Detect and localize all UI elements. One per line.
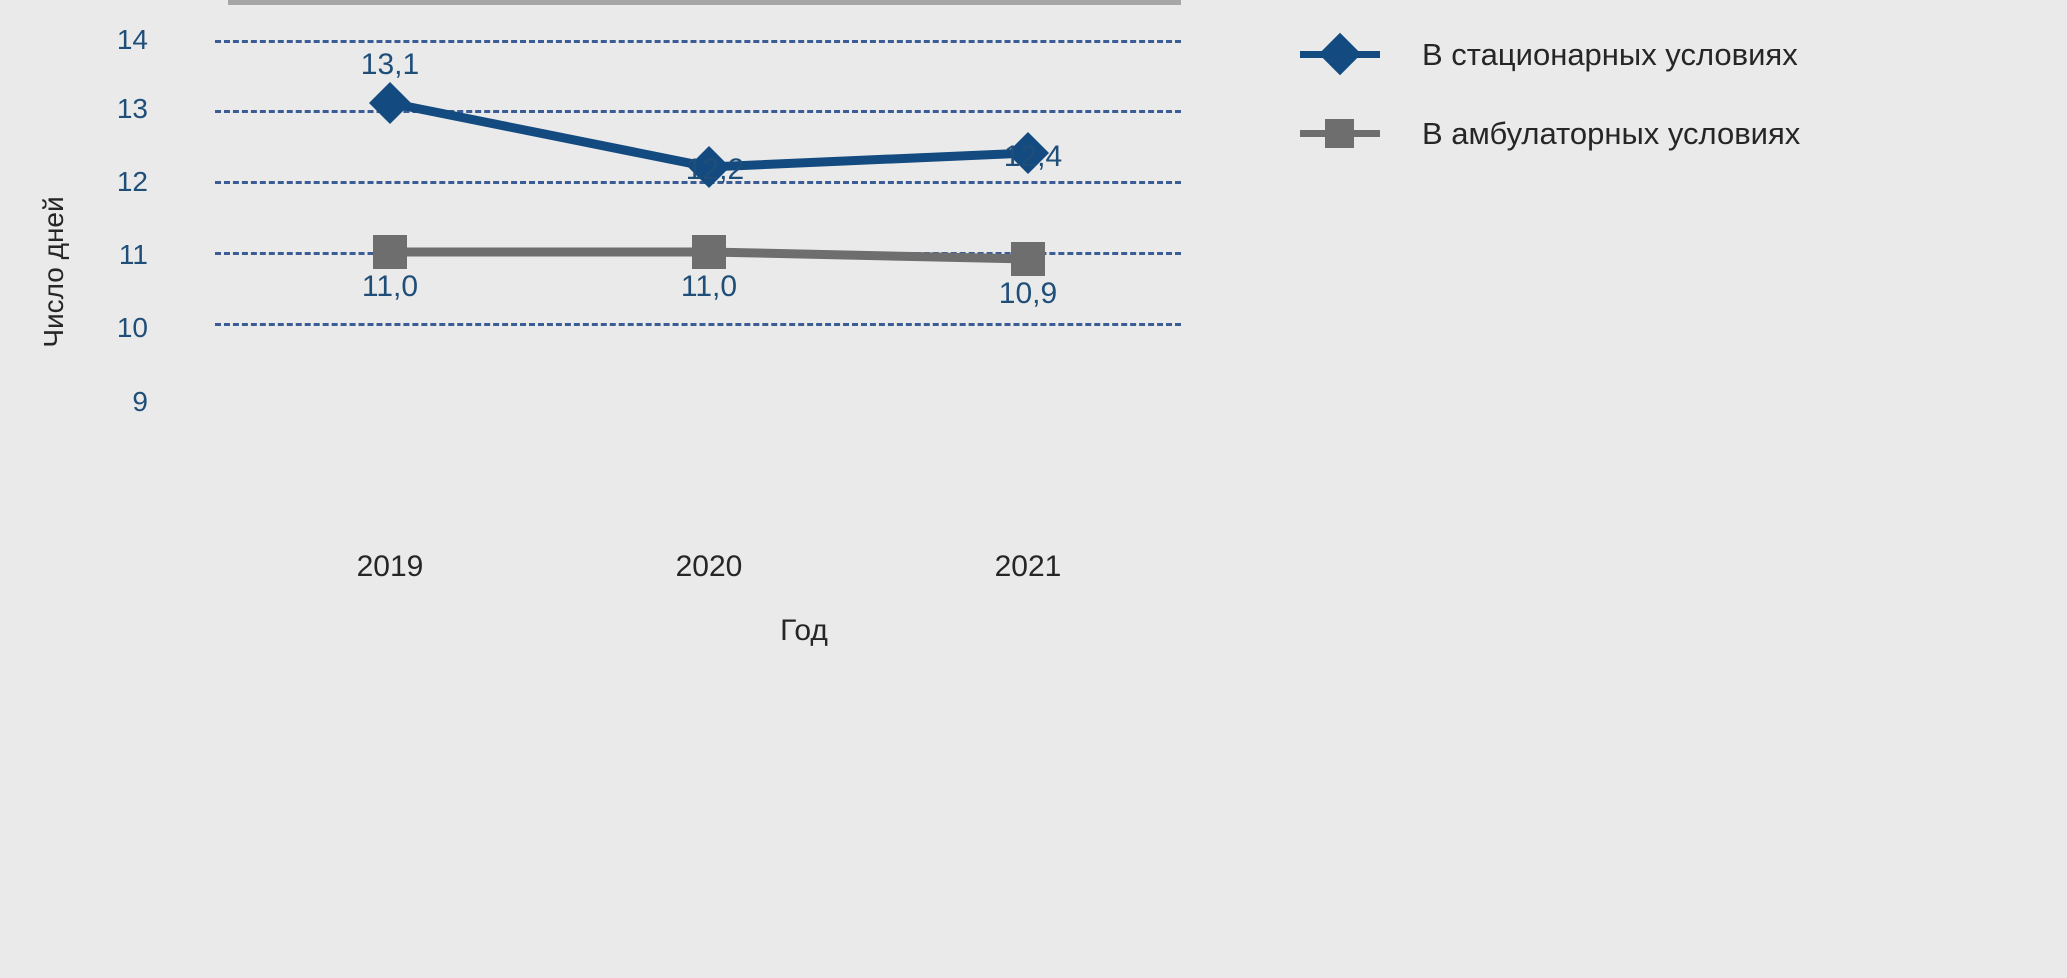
x-tick-label-2020: 2020 (676, 552, 743, 582)
legend-item-stationary[interactable]: В стационарных условиях (1300, 28, 1800, 80)
data-label-stationary-2019: 13,1 (361, 50, 419, 80)
y-tick-label-10: 10 (78, 314, 148, 342)
marker-ambulatory-2021 (1011, 242, 1045, 276)
legend-label-ambulatory: В амбулаторных условиях (1422, 118, 1800, 149)
line-chart: Число дней 14 13 12 11 10 9 13,1 12,2 12… (0, 0, 2067, 978)
data-label-ambulatory-2019: 11,0 (362, 272, 418, 302)
y-tick-label-11: 11 (78, 241, 148, 269)
y-tick-label-13: 13 (78, 95, 148, 123)
y-tick-label-14: 14 (78, 26, 148, 54)
x-axis-baseline (228, 0, 1181, 5)
x-axis-title: Год (704, 614, 904, 648)
data-label-ambulatory-2021: 10,9 (999, 279, 1057, 309)
y-axis-title: Число дней (38, 172, 70, 372)
data-label-ambulatory-2020: 11,0 (681, 272, 737, 302)
data-label-stationary-2021: 12,4 (1004, 142, 1062, 172)
legend-key-diamond-icon (1300, 34, 1380, 74)
gridline-13 (215, 110, 1181, 113)
legend-key-square-icon (1300, 113, 1380, 153)
y-tick-label-12: 12 (78, 168, 148, 196)
x-tick-label-2019: 2019 (357, 552, 424, 582)
data-label-stationary-2020: 12,2 (686, 155, 744, 185)
marker-stationary-2019 (369, 82, 411, 124)
legend-label-stationary: В стационарных условиях (1422, 39, 1798, 70)
y-tick-label-9: 9 (78, 388, 148, 416)
gridline-11 (215, 252, 1181, 255)
chart-legend: В стационарных условиях В амбулаторных у… (1300, 28, 1800, 186)
gridline-14 (215, 40, 1181, 43)
x-tick-label-2021: 2021 (995, 552, 1062, 582)
gridline-10 (215, 323, 1181, 326)
legend-item-ambulatory[interactable]: В амбулаторных условиях (1300, 107, 1800, 159)
